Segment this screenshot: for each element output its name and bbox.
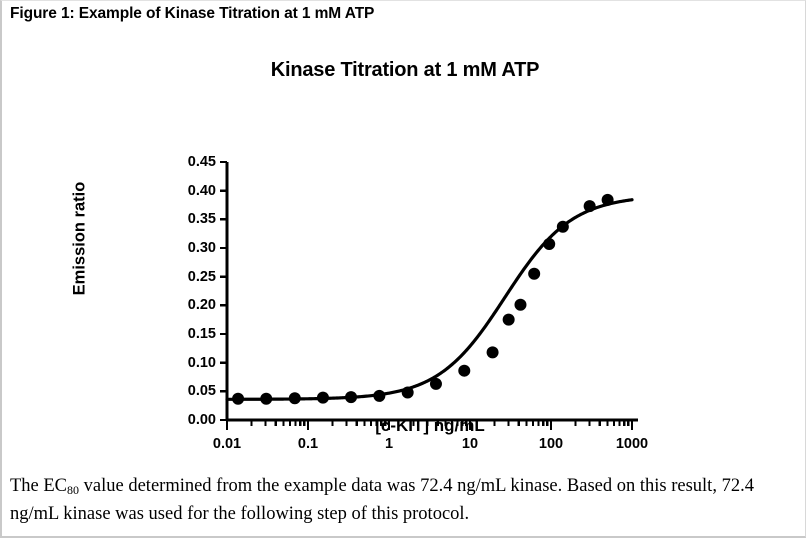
y-axis-title: Emission ratio: [71, 149, 90, 329]
data-point: [557, 221, 569, 233]
plot-axes: [220, 162, 638, 430]
chart-figure: Kinase Titration at 1 mM ATP Emission ra…: [2, 45, 806, 455]
x-axis-tick-label: 1000: [616, 436, 648, 452]
footer-text-after-subscript: value determined from the example data w…: [10, 476, 754, 524]
data-points: [232, 194, 614, 405]
data-point: [584, 200, 596, 212]
y-axis-tick-label: 0.40: [152, 183, 216, 199]
y-axis-tick-label: 0.10: [152, 355, 216, 371]
data-point: [232, 393, 244, 405]
data-point: [514, 299, 526, 311]
x-axis-tick-label: 10: [462, 436, 478, 452]
plot-area: Emission ratio [c-KIT] ng/mL 0.000.050.1…: [2, 45, 806, 455]
data-point: [503, 314, 515, 326]
dose-response-plot: [2, 45, 806, 455]
y-axis-tick-label: 0.30: [152, 240, 216, 256]
data-point: [543, 238, 555, 250]
data-point: [289, 392, 301, 404]
x-axis-title: [c-KIT] ng/mL: [227, 416, 633, 436]
x-axis-tick-label: 100: [539, 436, 563, 452]
y-axis-tick-label: 0.25: [152, 269, 216, 285]
x-axis-tick-label: 0.1: [298, 436, 318, 452]
data-point: [487, 346, 499, 358]
data-point: [402, 386, 414, 398]
data-point: [602, 194, 614, 206]
y-axis-tick-label: 0.45: [152, 154, 216, 170]
data-point: [345, 391, 357, 403]
data-point: [528, 268, 540, 280]
fit-curve: [227, 200, 632, 400]
data-point: [373, 390, 385, 402]
ec80-subscript: 80: [67, 483, 79, 497]
footer-text-before-subscript: The EC: [10, 476, 67, 496]
y-axis-tick-label: 0.20: [152, 297, 216, 313]
y-axis-tick-label: 0.05: [152, 383, 216, 399]
data-point: [430, 378, 442, 390]
y-axis-tick-label: 0.35: [152, 211, 216, 227]
figure-caption: Figure 1: Example of Kinase Titration at…: [10, 5, 374, 23]
x-axis-tick-label: 1: [385, 436, 393, 452]
y-axis-tick-label: 0.15: [152, 326, 216, 342]
data-point: [317, 392, 329, 404]
data-point: [260, 393, 272, 405]
x-axis-tick-label: 0.01: [213, 436, 241, 452]
y-axis-tick-label: 0.00: [152, 412, 216, 428]
footer-paragraph: The EC80 value determined from the examp…: [10, 473, 800, 528]
data-point: [458, 365, 470, 377]
document-page: Figure 1: Example of Kinase Titration at…: [0, 0, 806, 538]
